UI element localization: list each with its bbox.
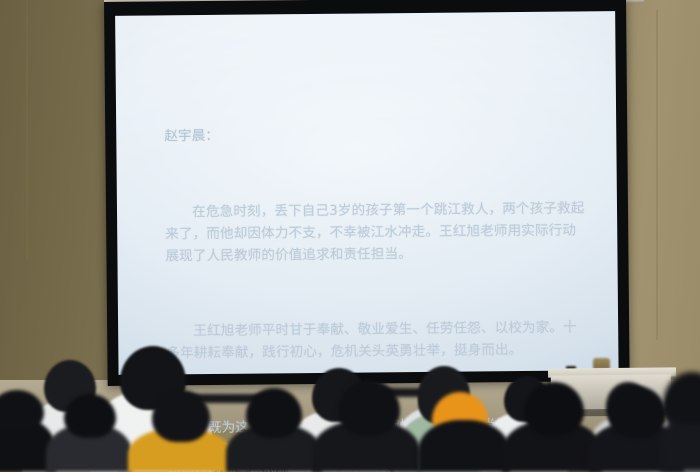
person-front-8-head: [608, 386, 666, 438]
person-front-4-orangecap-body: [418, 420, 510, 472]
lecture-hall-scene: 赵宇晨： 在危急时刻，丢下自己3岁的孩子第一个跳江救人，两个孩子救起来了，而他却…: [0, 0, 700, 472]
person-front-2-head: [64, 394, 116, 438]
person-front-6-head: [338, 380, 400, 436]
slide-heading: 赵宇晨：: [164, 121, 584, 147]
slide-paragraph-1: 在危急时刻，丢下自己3岁的孩子第一个跳江救人，两个孩子救起来了，而他却因体力不支…: [165, 197, 586, 267]
person-front-5-head: [246, 388, 302, 438]
person-front-1-head: [0, 390, 44, 432]
projection-screen-frame: 赵宇晨： 在危急时刻，丢下自己3岁的孩子第一个跳江救人，两个孩子救起来了，而他却…: [104, 0, 630, 386]
wall-seam-left: [26, 0, 28, 260]
person-front-7-head: [524, 382, 584, 436]
person-front-3-yellow-head: [152, 390, 210, 442]
projection-screen-surface: 赵宇晨： 在危急时刻，丢下自己3岁的孩子第一个跳江救人，两个孩子救起来了，而他却…: [115, 11, 618, 375]
wall-seam-right: [656, 10, 658, 340]
audience: [0, 332, 700, 472]
person-front-9-head: [664, 372, 700, 424]
